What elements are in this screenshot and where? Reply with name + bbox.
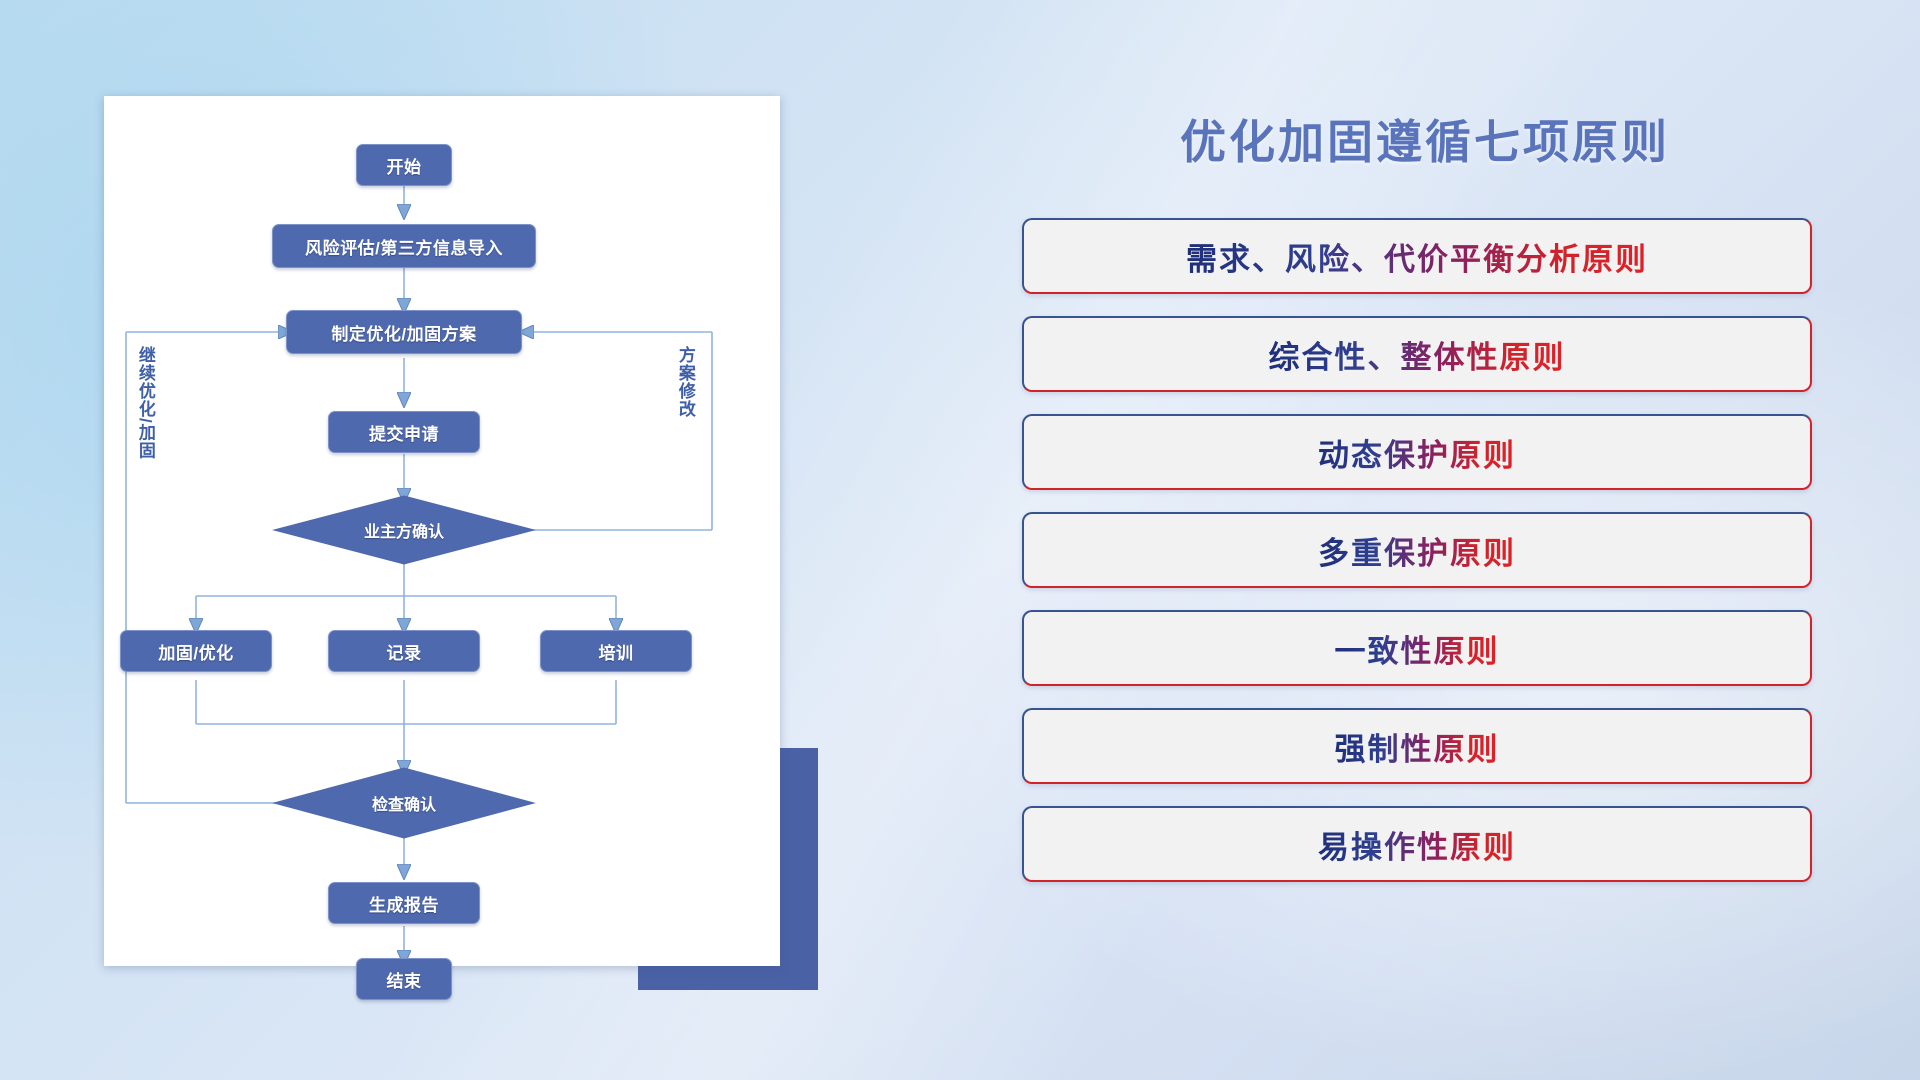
principle-label: 多重保护原则 [1318, 528, 1516, 573]
principle-label: 易操作性原则 [1318, 822, 1516, 867]
flow-node-check-confirm-label: 检查确认 [274, 789, 534, 817]
principle-card[interactable]: 综合性、整体性原则 [1022, 316, 1812, 392]
flow-node-training[interactable]: 培训 [540, 630, 692, 672]
edge-label-plan-revision: 方案修改 [676, 346, 694, 418]
flow-node-end[interactable]: 结束 [356, 958, 452, 1000]
flow-node-label: 生成报告 [369, 891, 439, 916]
flow-node-label: 加固/优化 [158, 639, 233, 664]
principles-title: 优化加固遵循七项原则 [1020, 106, 1830, 172]
flow-node-generate-report[interactable]: 生成报告 [328, 882, 480, 924]
principle-card[interactable]: 一致性原则 [1022, 610, 1812, 686]
flow-node-label: 检查确认 [372, 791, 436, 815]
flow-node-label: 培训 [599, 639, 634, 664]
principle-label: 动态保护原则 [1318, 430, 1516, 475]
flow-node-label: 结束 [387, 967, 422, 992]
flow-node-label: 制定优化/加固方案 [331, 320, 476, 345]
flow-node-owner-confirm-label: 业主方确认 [274, 516, 534, 544]
flow-node-label: 提交申请 [369, 420, 439, 445]
principle-card[interactable]: 动态保护原则 [1022, 414, 1812, 490]
principle-label: 综合性、整体性原则 [1269, 332, 1566, 377]
flow-node-label: 开始 [387, 153, 422, 178]
principle-card[interactable]: 多重保护原则 [1022, 512, 1812, 588]
edge-label-continue-optimize: 继续优化/加固 [136, 346, 154, 460]
principle-card[interactable]: 易操作性原则 [1022, 806, 1812, 882]
principle-label: 一致性原则 [1335, 626, 1500, 671]
flowchart: 开始 风险评估/第三方信息导入 制定优化/加固方案 提交申请 业主方确认 加固/… [104, 96, 780, 966]
flowchart-panel: 开始 风险评估/第三方信息导入 制定优化/加固方案 提交申请 业主方确认 加固/… [104, 96, 780, 966]
flow-node-label: 记录 [387, 639, 422, 664]
principle-card[interactable]: 强制性原则 [1022, 708, 1812, 784]
flow-node-submit-application[interactable]: 提交申请 [328, 411, 480, 453]
principles-section: 优化加固遵循七项原则 需求、风险、代价平衡分析原则 综合性、整体性原则 动态保护… [1020, 96, 1830, 996]
flow-node-label: 业主方确认 [364, 518, 444, 542]
flow-node-reinforce-optimize[interactable]: 加固/优化 [120, 630, 272, 672]
flow-node-risk-assessment[interactable]: 风险评估/第三方信息导入 [272, 224, 536, 268]
flow-node-start[interactable]: 开始 [356, 144, 452, 186]
principles-list: 需求、风险、代价平衡分析原则 综合性、整体性原则 动态保护原则 多重保护原则 一… [1022, 218, 1812, 904]
flow-node-make-plan[interactable]: 制定优化/加固方案 [286, 310, 522, 354]
flow-node-label: 风险评估/第三方信息导入 [305, 234, 503, 259]
flow-node-record[interactable]: 记录 [328, 630, 480, 672]
principle-label: 强制性原则 [1335, 724, 1500, 769]
principle-label: 需求、风险、代价平衡分析原则 [1186, 234, 1648, 279]
principle-card[interactable]: 需求、风险、代价平衡分析原则 [1022, 218, 1812, 294]
